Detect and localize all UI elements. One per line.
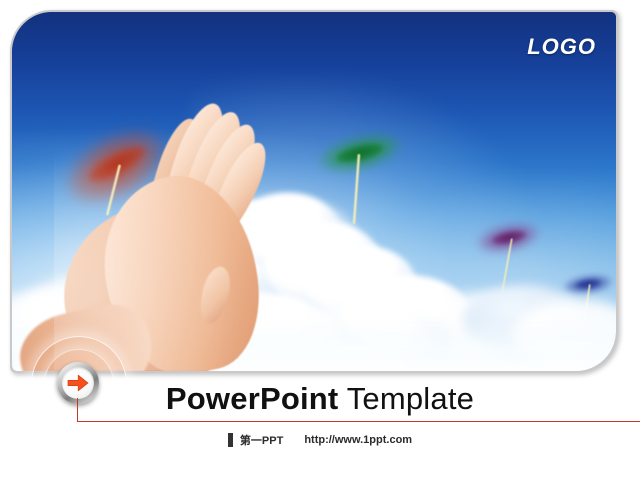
- credit-bullet-icon: [228, 433, 233, 447]
- praying-hands-illustration: [54, 98, 286, 370]
- connector-line-horizontal: [77, 421, 640, 422]
- hero-photo: LOGO: [12, 12, 616, 371]
- credit-url[interactable]: http://www.1ppt.com: [304, 434, 412, 446]
- slide-canvas: LOGO PowerPoint Template 第一PPT http://ww…: [0, 0, 640, 480]
- page-title: PowerPoint Template: [0, 381, 640, 417]
- page-title-light: Template: [338, 381, 474, 416]
- credit-brand: 第一PPT: [240, 432, 283, 448]
- page-title-strong: PowerPoint: [166, 381, 339, 416]
- logo-text: LOGO: [527, 34, 596, 60]
- credit-line: 第一PPT http://www.1ppt.com: [0, 432, 640, 448]
- hero-image-frame: LOGO: [10, 10, 618, 373]
